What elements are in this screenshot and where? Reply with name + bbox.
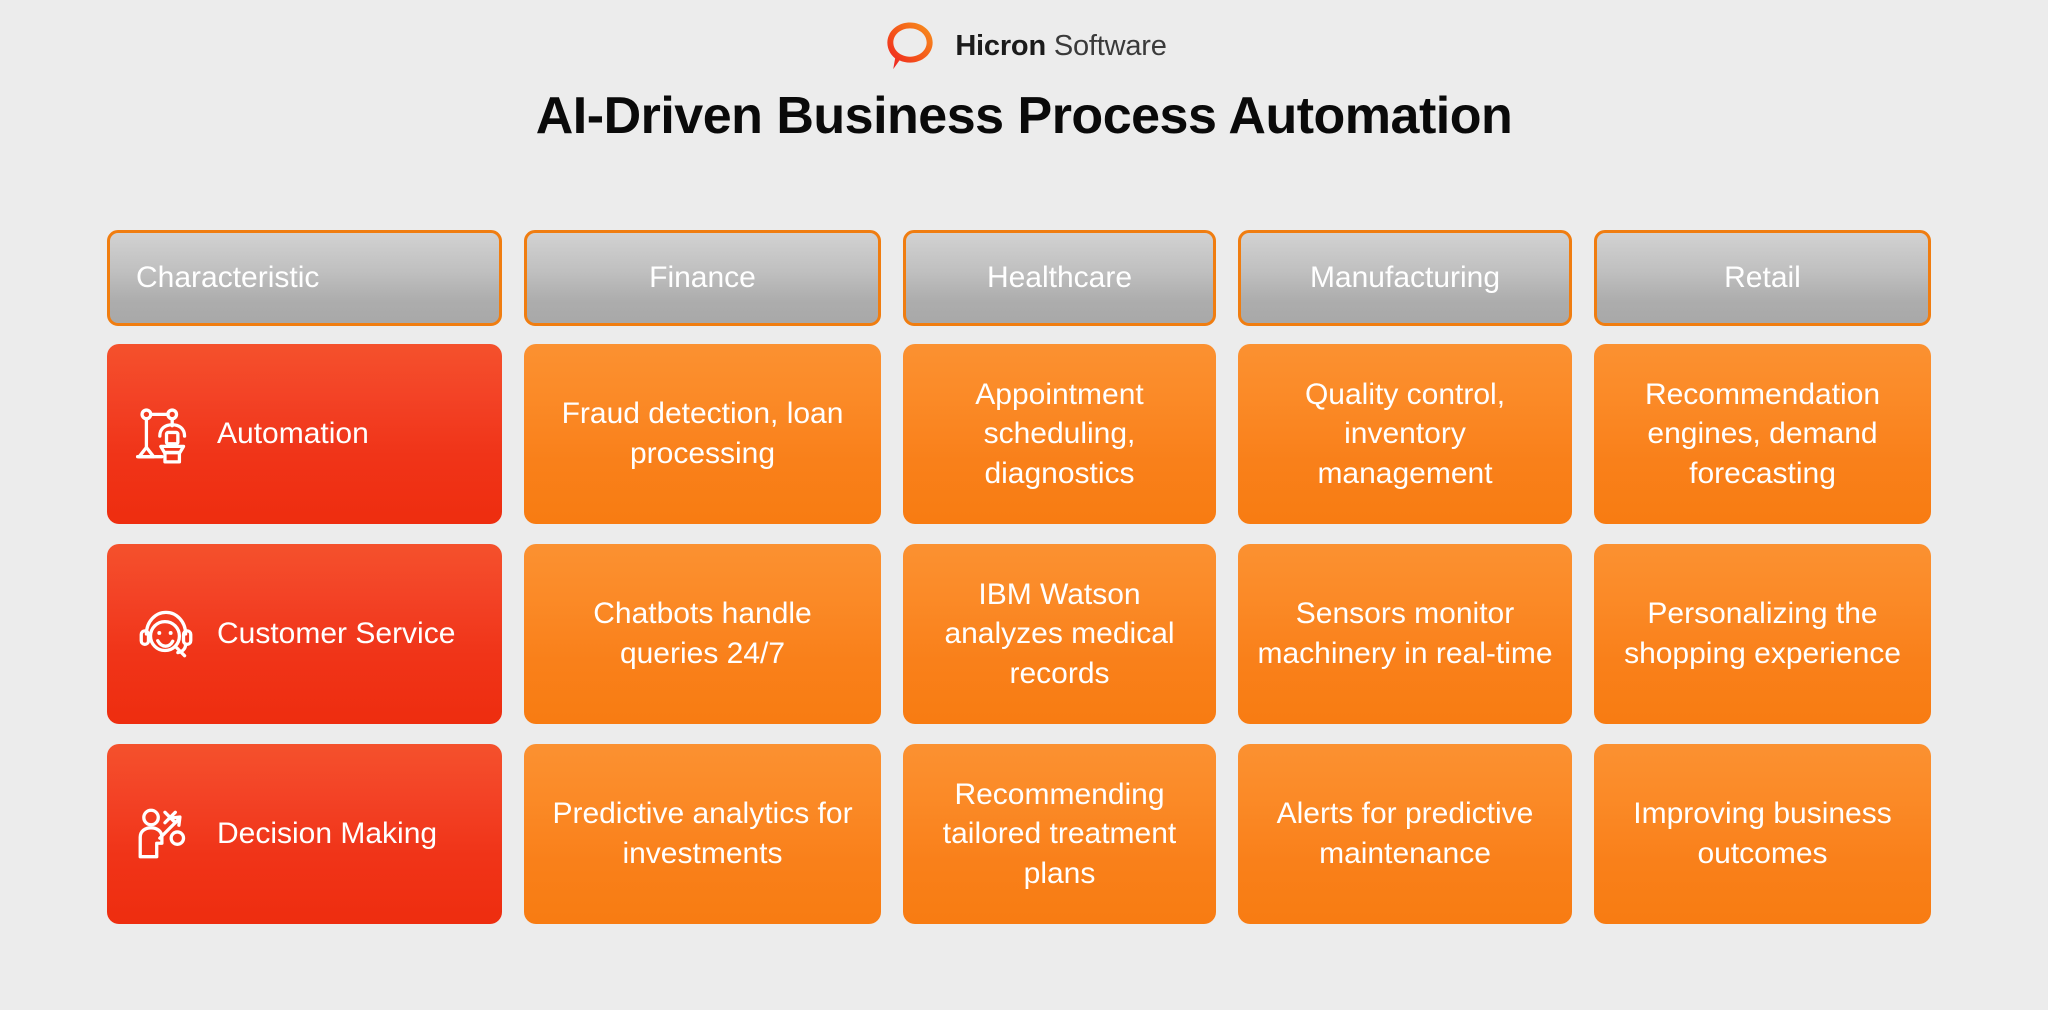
cell-decision-making-manufacturing[interactable]: Alerts for predictive maintenance [1238, 744, 1572, 924]
header-cell-retail[interactable]: Retail [1594, 230, 1931, 326]
cell-decision-making-healthcare[interactable]: Recommending tailored treatment plans [903, 744, 1216, 924]
table-row: Automation Fraud detection, loan process… [107, 344, 1935, 524]
cell-decision-making-finance[interactable]: Predictive analytics for investments [524, 744, 881, 924]
brand-logo: Hicron Software [0, 0, 2048, 74]
person-strategy-arrow-icon [133, 801, 199, 867]
header-cell-characteristic[interactable]: Characteristic [107, 230, 502, 326]
header-cell-finance[interactable]: Finance [524, 230, 881, 326]
comparison-table: Characteristic Finance Healthcare Manufa… [107, 230, 1935, 944]
cell-customer-service-retail[interactable]: Personalizing the shopping experience [1594, 544, 1931, 724]
header-cell-manufacturing[interactable]: Manufacturing [1238, 230, 1572, 326]
characteristic-cell-decision-making[interactable]: Decision Making [107, 744, 502, 924]
cell-text: Predictive analytics for investments [542, 794, 863, 873]
cell-text: Recommending tailored treatment plans [921, 775, 1198, 894]
cell-text: Improving business outcomes [1612, 794, 1913, 873]
cell-customer-service-manufacturing[interactable]: Sensors monitor machinery in real-time [1238, 544, 1572, 724]
robot-arm-icon [133, 401, 199, 467]
cell-customer-service-healthcare[interactable]: IBM Watson analyzes medical records [903, 544, 1216, 724]
table-header-row: Characteristic Finance Healthcare Manufa… [107, 230, 1935, 326]
cell-decision-making-retail[interactable]: Improving business outcomes [1594, 744, 1931, 924]
brand-name-light: Software [1054, 30, 1167, 62]
table-row: Customer Service Chatbots handle queries… [107, 544, 1935, 724]
characteristic-cell-automation[interactable]: Automation [107, 344, 502, 524]
characteristic-label: Customer Service [217, 617, 455, 652]
slide: Hicron Software AI-Driven Business Proce… [0, 0, 2048, 1010]
hicron-speech-bubble-ring-icon [881, 17, 939, 75]
brand-name-bold: Hicron [955, 30, 1046, 62]
cell-automation-manufacturing[interactable]: Quality control, inventory management [1238, 344, 1572, 524]
headset-support-agent-icon [133, 601, 199, 667]
cell-text: Sensors monitor machinery in real-time [1256, 594, 1554, 673]
cell-text: Fraud detection, loan processing [542, 394, 863, 473]
cell-automation-healthcare[interactable]: Appointment scheduling, diagnostics [903, 344, 1216, 524]
cell-text: IBM Watson analyzes medical records [921, 575, 1198, 694]
cell-text: Alerts for predictive maintenance [1256, 794, 1554, 873]
header-cell-healthcare[interactable]: Healthcare [903, 230, 1216, 326]
cell-text: Recommendation engines, demand forecasti… [1612, 375, 1913, 494]
cell-text: Personalizing the shopping experience [1612, 594, 1913, 673]
cell-automation-finance[interactable]: Fraud detection, loan processing [524, 344, 881, 524]
characteristic-cell-customer-service[interactable]: Customer Service [107, 544, 502, 724]
cell-customer-service-finance[interactable]: Chatbots handle queries 24/7 [524, 544, 881, 724]
cell-text: Quality control, inventory management [1256, 375, 1554, 494]
table-row: Decision Making Predictive analytics for… [107, 744, 1935, 924]
characteristic-label: Automation [217, 417, 369, 452]
cell-text: Chatbots handle queries 24/7 [542, 594, 863, 673]
cell-text: Appointment scheduling, diagnostics [921, 375, 1198, 494]
page-title: AI-Driven Business Process Automation [0, 88, 2048, 145]
brand-name: Hicron Software [955, 32, 1166, 61]
characteristic-label: Decision Making [217, 817, 437, 852]
cell-automation-retail[interactable]: Recommendation engines, demand forecasti… [1594, 344, 1931, 524]
